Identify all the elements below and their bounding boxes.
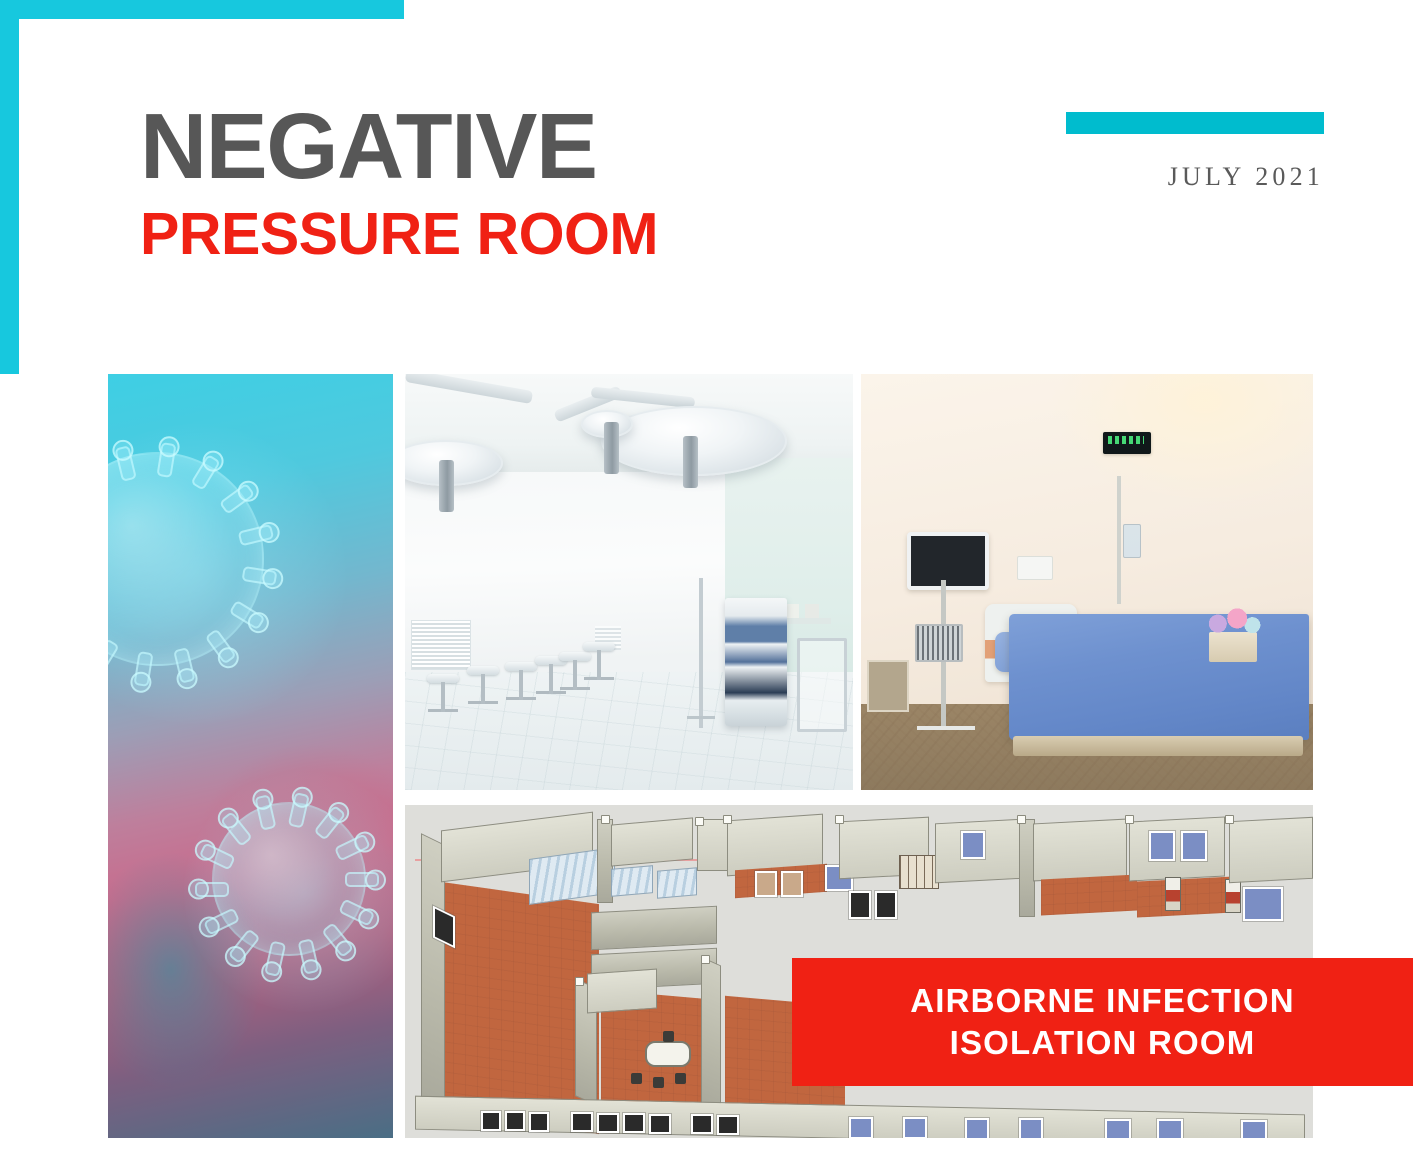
or-equipment-cart [725, 598, 787, 726]
plan-column [695, 817, 704, 826]
plan-chair [653, 1077, 664, 1088]
plan-window [849, 1117, 873, 1138]
plan-window [1243, 887, 1283, 921]
hospital-bed [1009, 614, 1309, 740]
virus-illustration [108, 374, 393, 1138]
plan-window [649, 1114, 671, 1134]
plan-wall-corridor-right [701, 957, 721, 1116]
iv-pole [1117, 476, 1121, 604]
or-wall-vent-large [411, 620, 471, 670]
plan-stairwell-secondary [611, 865, 653, 897]
or-instrument-rack [797, 638, 847, 732]
virus-particle-upper [108, 452, 260, 662]
operating-room-photo [405, 374, 853, 790]
plan-stairwell-tertiary [657, 867, 697, 898]
plan-wall-lightwell [697, 819, 731, 871]
bedside-table [1209, 632, 1257, 662]
plan-meeting-table [645, 1041, 691, 1067]
plan-window [1149, 831, 1175, 861]
plan-wall-interior [591, 906, 717, 951]
plan-window [691, 1114, 713, 1134]
plan-window [597, 1113, 619, 1133]
plan-patient-bed [1225, 879, 1241, 913]
wall-return-vent [867, 660, 909, 712]
plan-wall-room [1033, 819, 1127, 882]
date-label: JULY 2021 [1066, 162, 1324, 192]
page-subtitle: PRESSURE ROOM [140, 204, 900, 266]
page-title: NEGATIVE [140, 100, 900, 192]
virus-spike [195, 882, 229, 897]
plan-cabinet-grid [899, 855, 939, 889]
plan-window [571, 1112, 593, 1132]
caption-banner: AIRBORNE INFECTION ISOLATION ROOM [792, 958, 1413, 1086]
or-stool [583, 642, 615, 696]
plan-column [835, 815, 844, 824]
flower-bouquet [1207, 608, 1261, 634]
supply-basket [915, 624, 963, 662]
plan-window [1181, 831, 1207, 861]
caption-line-1: AIRBORNE INFECTION [910, 980, 1295, 1022]
virus-spike [345, 872, 379, 887]
infusion-pump [1123, 524, 1141, 558]
plan-window [961, 831, 985, 859]
plan-chair [663, 1031, 674, 1042]
patient-room-photo [861, 374, 1313, 790]
or-stool [467, 666, 499, 720]
plan-window [875, 891, 897, 919]
plan-window [1241, 1120, 1267, 1138]
date-accent-rule [1066, 112, 1324, 134]
patient-monitor [907, 532, 989, 590]
plan-wall-room [1229, 817, 1313, 883]
plan-chair [675, 1073, 686, 1084]
plan-patient-bed [1165, 877, 1181, 911]
plan-column [575, 977, 584, 986]
plan-column [723, 815, 732, 824]
plan-wall-office-back [587, 969, 657, 1014]
plan-column [1017, 815, 1026, 824]
plan-window [529, 1112, 549, 1132]
plan-floor-room [1041, 874, 1137, 915]
plan-window [849, 891, 871, 919]
plan-chair [631, 1073, 642, 1084]
plan-column [701, 955, 710, 964]
virus-particle-lower [212, 802, 362, 952]
plan-window [623, 1113, 645, 1133]
surgical-lamp-left [405, 440, 503, 486]
bed-frame [1013, 736, 1303, 756]
plan-window [1019, 1118, 1043, 1138]
plan-window [717, 1115, 739, 1135]
surgical-lamp-small [581, 410, 633, 438]
plan-window [1157, 1119, 1183, 1138]
poster-canvas: NEGATIVE PRESSURE ROOM JULY 2021 [0, 0, 1414, 1149]
plan-window [781, 871, 803, 897]
plan-window [481, 1111, 501, 1131]
accent-bar-left [0, 0, 19, 374]
caption-line-2: ISOLATION ROOM [950, 1022, 1256, 1064]
plan-column [1125, 815, 1134, 824]
plan-floor-room [1137, 876, 1233, 917]
or-stool [505, 662, 537, 716]
plan-window [1105, 1119, 1131, 1138]
plan-wall-room [1129, 816, 1225, 881]
monitor-stand-base [917, 726, 975, 746]
plan-window [965, 1118, 989, 1138]
date-block: JULY 2021 [1066, 112, 1324, 192]
or-stool [427, 674, 459, 728]
plan-window [903, 1117, 927, 1138]
digital-clock [1103, 432, 1151, 454]
wall-outlet-panel [1017, 556, 1053, 580]
plan-column [1225, 815, 1234, 824]
plan-window [755, 871, 777, 897]
or-iv-pole [699, 578, 703, 728]
plan-window [505, 1111, 525, 1131]
accent-bar-top [0, 0, 404, 19]
plan-wall-room [611, 817, 693, 866]
plan-column [601, 815, 610, 824]
title-block: NEGATIVE PRESSURE ROOM [140, 100, 900, 266]
